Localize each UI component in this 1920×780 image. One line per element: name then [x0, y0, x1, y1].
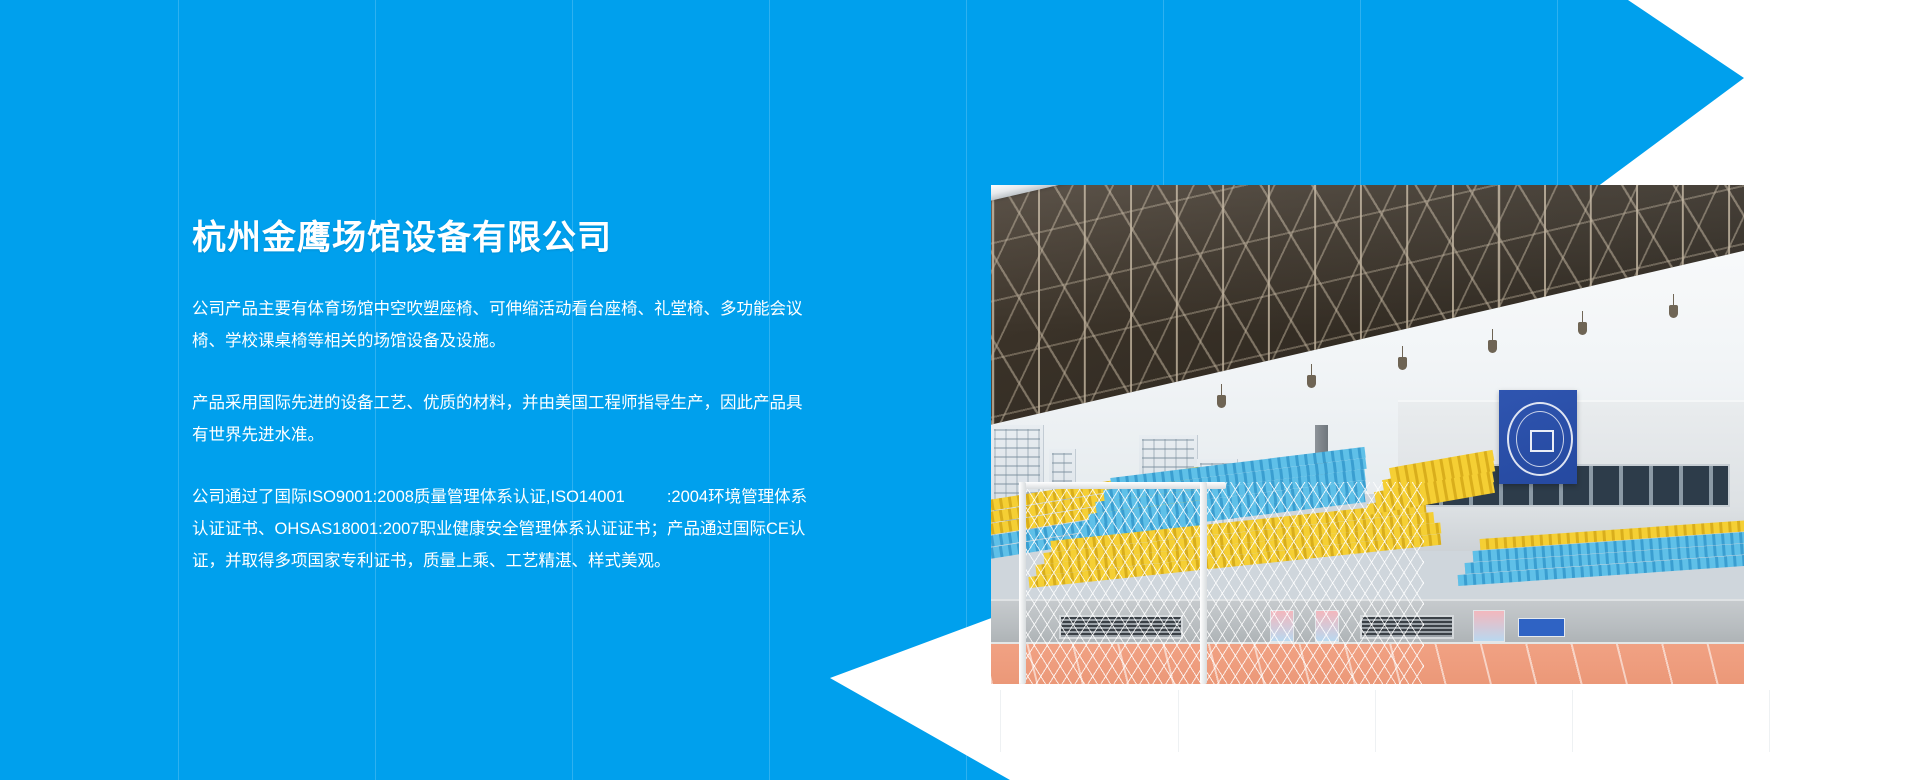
certifications-text-part1: 公司通过了国际ISO9001:2008质量管理体系认证,ISO14001 — [192, 488, 625, 506]
paragraph-products: 公司产品主要有体育场馆中空吹塑座椅、可伸缩活动看台座椅、礼堂椅、多功能会议椅、学… — [192, 293, 817, 357]
hero-banner: 杭州金鹰场馆设备有限公司 公司产品主要有体育场馆中空吹塑座椅、可伸缩活动看台座椅… — [0, 0, 1920, 780]
gridline — [1769, 690, 1770, 752]
roof-lamp — [1488, 340, 1497, 353]
wall-poster — [1473, 610, 1505, 642]
gridline — [1754, 0, 1755, 780]
roof-lamp — [1578, 322, 1587, 335]
roof-lamp — [1669, 305, 1678, 318]
goal-post-right — [1200, 482, 1207, 684]
page-title: 杭州金鹰场馆设备有限公司 — [192, 218, 817, 259]
gridline — [1178, 690, 1179, 752]
hero-text-column: 杭州金鹰场馆设备有限公司 公司产品主要有体育场馆中空吹塑座椅、可伸缩活动看台座椅… — [192, 218, 817, 577]
stadium-photo — [991, 185, 1744, 684]
roof-lamp — [1217, 395, 1226, 408]
paragraph-certifications: 公司通过了国际ISO9001:2008质量管理体系认证,ISO14001:200… — [192, 481, 817, 577]
roof-lamp — [1307, 375, 1316, 388]
roof-lamp — [1398, 357, 1407, 370]
goal-post-left — [1019, 482, 1026, 684]
gridline — [1375, 690, 1376, 752]
goal-net — [1019, 482, 1424, 684]
gridline — [1000, 690, 1001, 752]
gridline — [1572, 690, 1573, 752]
goal-crossbar — [1019, 482, 1226, 489]
paragraph-technology: 产品采用国际先进的设备工艺、优质的材料，并由美国工程师指导生产，因此产品具有世界… — [192, 387, 817, 451]
soccer-goal — [1002, 464, 1424, 684]
wall-sign — [1518, 618, 1565, 637]
